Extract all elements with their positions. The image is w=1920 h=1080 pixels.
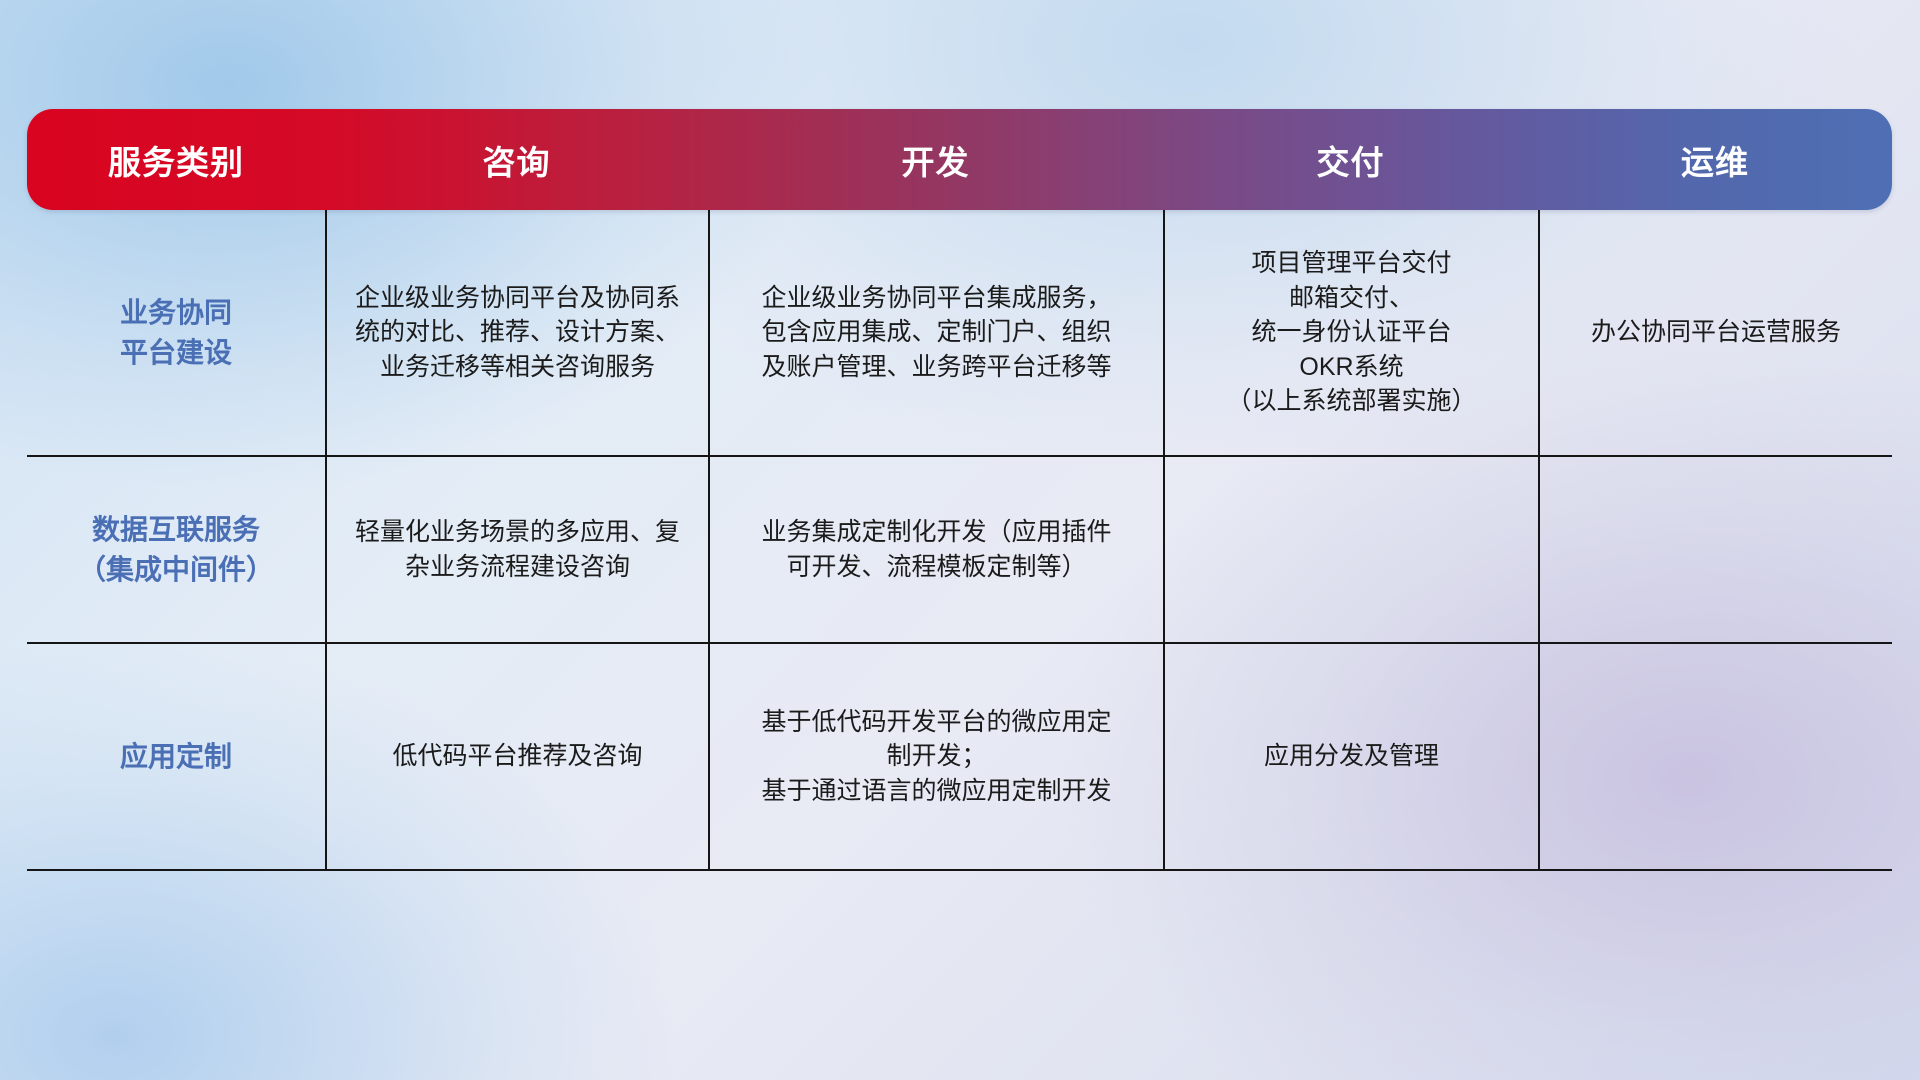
row-category-label: 业务协同平台建设 (27, 210, 325, 455)
cell-consulting: 低代码平台推荐及咨询 (325, 644, 708, 869)
cell-consulting: 轻量化业务场景的多应用、复杂业务流程建设咨询 (325, 457, 708, 642)
column-header-development: 开发 (708, 136, 1163, 184)
row-category-label: 应用定制 (27, 644, 325, 869)
cell-development: 基于低代码开发平台的微应用定制开发；基于通过语言的微应用定制开发 (708, 644, 1163, 869)
table-row: 应用定制 低代码平台推荐及咨询 基于低代码开发平台的微应用定制开发；基于通过语言… (27, 644, 1892, 871)
cell-delivery: 应用分发及管理 (1163, 644, 1538, 869)
row-category-label: 数据互联服务（集成中间件） (27, 457, 325, 642)
column-header-delivery: 交付 (1163, 136, 1538, 184)
table-body: 业务协同平台建设 企业级业务协同平台及协同系统的对比、推荐、设计方案、业务迁移等… (27, 210, 1892, 871)
cell-development: 企业级业务协同平台集成服务，包含应用集成、定制门户、组织及账户管理、业务跨平台迁… (708, 210, 1163, 455)
cell-delivery (1163, 457, 1538, 642)
table-row: 数据互联服务（集成中间件） 轻量化业务场景的多应用、复杂业务流程建设咨询 业务集… (27, 457, 1892, 644)
table-header-row: 服务类别 咨询 开发 交付 运维 (27, 109, 1892, 210)
table-row: 业务协同平台建设 企业级业务协同平台及协同系统的对比、推荐、设计方案、业务迁移等… (27, 210, 1892, 457)
cell-development: 业务集成定制化开发（应用插件可开发、流程模板定制等） (708, 457, 1163, 642)
cell-consulting: 企业级业务协同平台及协同系统的对比、推荐、设计方案、业务迁移等相关咨询服务 (325, 210, 708, 455)
cell-delivery: 项目管理平台交付邮箱交付、统一身份认证平台OKR系统（以上系统部署实施） (1163, 210, 1538, 455)
cell-operations (1538, 644, 1892, 869)
column-header-consulting: 咨询 (325, 136, 708, 184)
cell-operations: 办公协同平台运营服务 (1538, 210, 1892, 455)
cell-operations (1538, 457, 1892, 642)
column-header-service-category: 服务类别 (27, 136, 325, 184)
service-matrix-table: 服务类别 咨询 开发 交付 运维 业务协同平台建设 企业级业务协同平台及协同系统… (27, 109, 1892, 949)
column-header-operations: 运维 (1538, 136, 1892, 184)
